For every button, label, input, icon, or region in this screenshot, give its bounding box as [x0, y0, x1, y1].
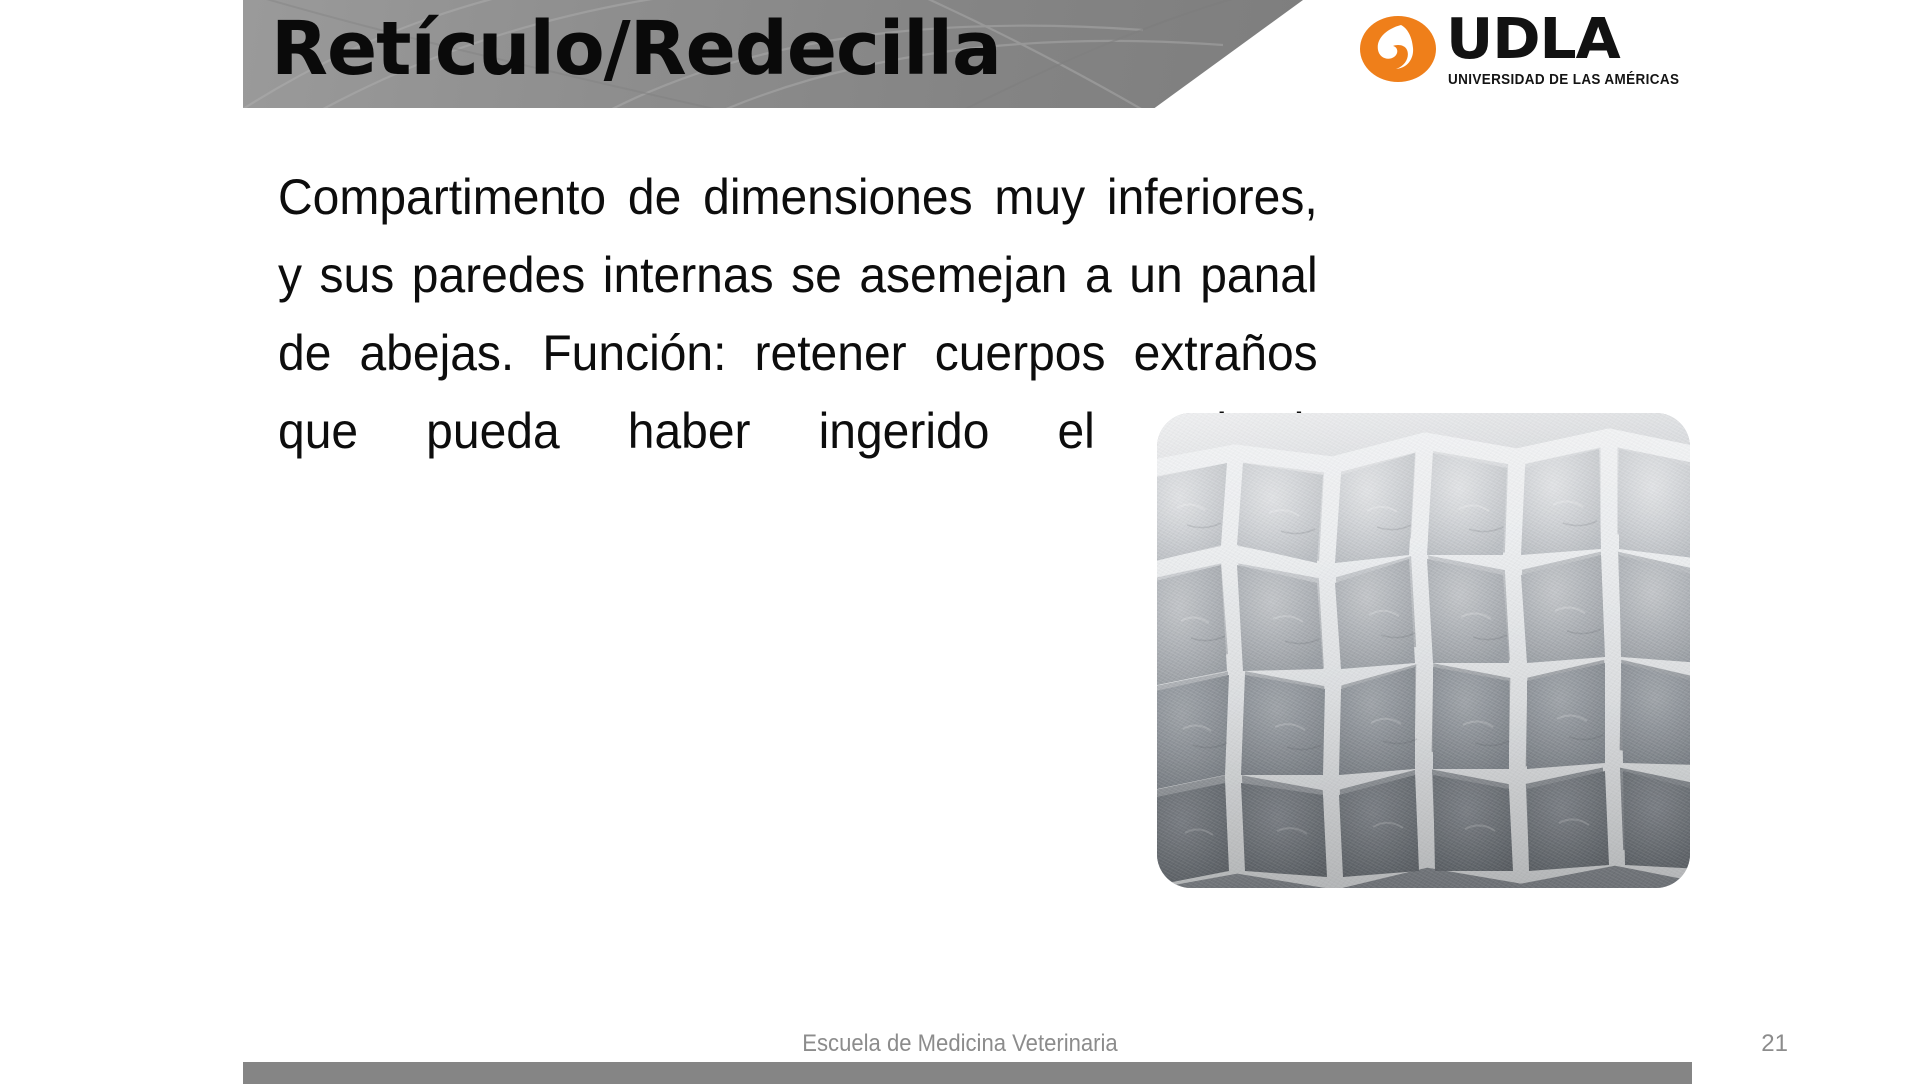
- flame-drop-icon: [1374, 23, 1414, 71]
- logo-wordmark: UDLA: [1446, 12, 1620, 68]
- udla-logo: UDLA UNIVERSIDAD DE LAS AMÉRICAS: [1360, 8, 1680, 100]
- honeycomb-cells-graphic: [1157, 413, 1690, 888]
- slide-canvas: Retículo/Redecilla UDLA UNIVERSIDAD DE L…: [0, 0, 1920, 1080]
- slide-number: 21: [1761, 1030, 1788, 1058]
- logo-tagline: UNIVERSIDAD DE LAS AMÉRICAS: [1448, 72, 1679, 88]
- page-title: Retículo/Redecilla: [243, 0, 1243, 104]
- reticulum-honeycomb-photo: [1157, 413, 1690, 888]
- footer-bar: [243, 1062, 1692, 1084]
- footer-school-label: Escuela de Medicina Veterinaria: [77, 1030, 1843, 1058]
